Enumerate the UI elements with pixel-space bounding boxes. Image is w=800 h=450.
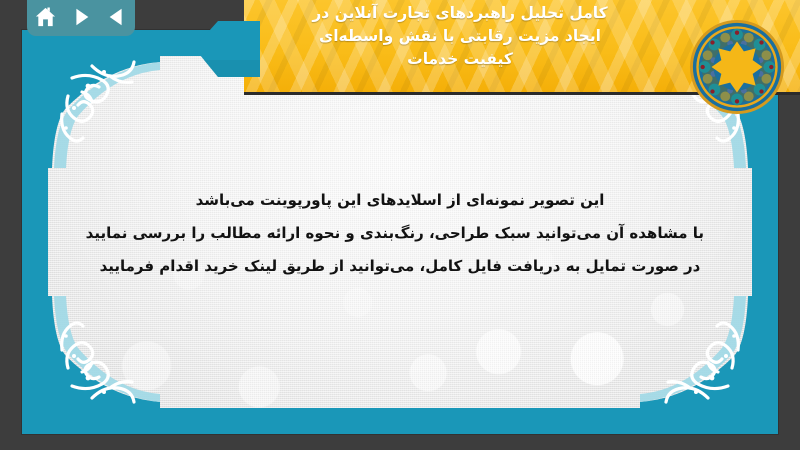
previous-slide-button[interactable] — [104, 4, 130, 30]
next-slide-button[interactable] — [68, 4, 94, 30]
title-line-2: ایجاد مزیت رقابتی با نقش واسطه‌ای — [250, 25, 670, 48]
triangle-left-icon — [106, 6, 128, 28]
body-line-3: در صورت تمایل به دریافت فایل کامل، می‌تو… — [96, 250, 704, 283]
mandala-medallion-icon — [688, 18, 786, 116]
ornament-corner-bottom-right-icon — [640, 296, 752, 408]
slide-navigation-toolbar[interactable] — [27, 0, 135, 36]
slide-viewer: این تصویر نمونه‌ای از اسلایدهای این پاور… — [0, 0, 800, 450]
body-line-1: این تصویر نمونه‌ای از اسلایدهای این پاور… — [96, 184, 704, 217]
slide-body-text: این تصویر نمونه‌ای از اسلایدهای این پاور… — [96, 184, 704, 283]
home-icon — [34, 6, 57, 29]
slide-canvas: این تصویر نمونه‌ای از اسلایدهای این پاور… — [48, 56, 752, 408]
body-line-2: با مشاهده آن می‌توانید سبک طراحی، رنگ‌بن… — [96, 217, 704, 250]
title-line-3: کیفیت خدمات — [250, 48, 670, 71]
ornament-corner-top-left-icon — [48, 56, 160, 168]
home-button[interactable] — [32, 4, 58, 30]
page-title: کامل تحلیل راهبردهای تجارت آنلاین در ایج… — [250, 2, 670, 71]
ornament-corner-bottom-left-icon — [48, 296, 160, 408]
triangle-right-icon — [70, 6, 92, 28]
title-line-1: کامل تحلیل راهبردهای تجارت آنلاین در — [250, 2, 670, 25]
